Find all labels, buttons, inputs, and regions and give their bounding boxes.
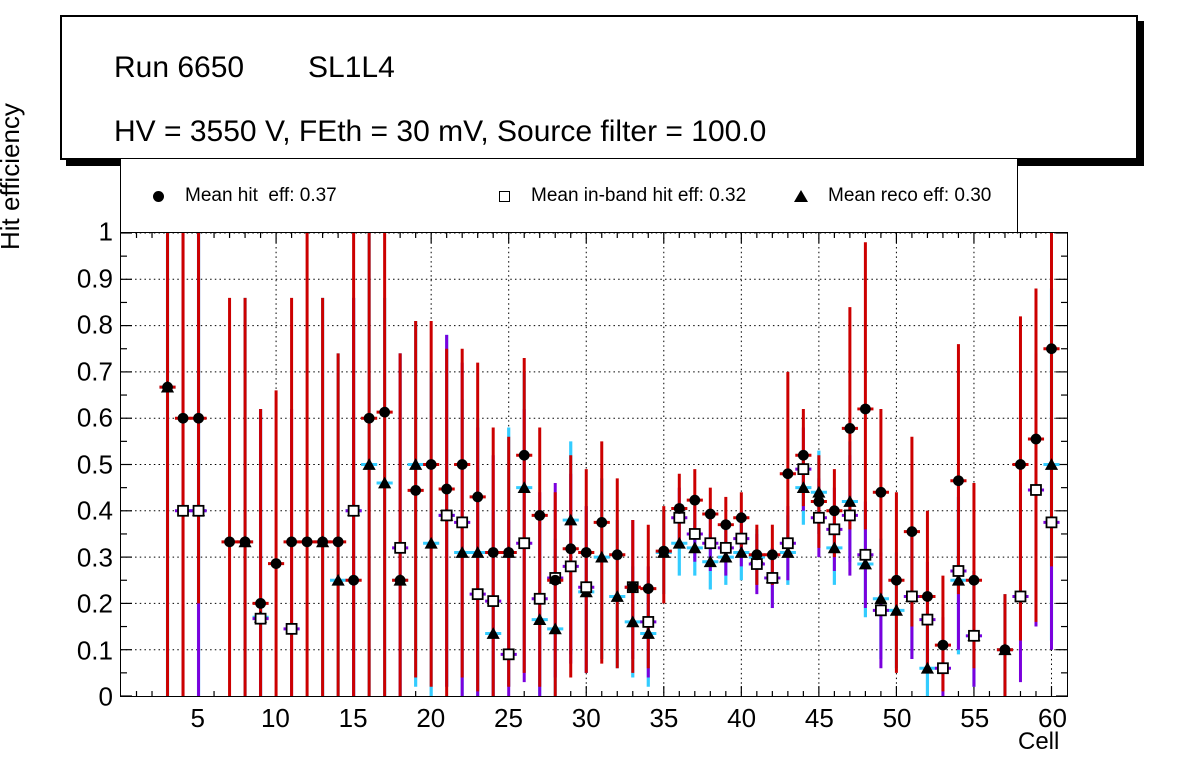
markers-filled-circle — [159, 343, 1059, 655]
y-axis-title: Hit efficiency — [0, 0, 26, 250]
x-tick-label: 15 — [339, 703, 368, 734]
x-tick-label: 10 — [261, 703, 290, 734]
x-tick-label: 55 — [960, 703, 989, 734]
y-tick-label: 1 — [99, 217, 113, 248]
title-box: Run 6650 SL1L4 HV = 3550 V, FEth = 30 mV… — [60, 15, 1138, 160]
x-tick-label: 40 — [727, 703, 756, 734]
y-tick-label: 0.3 — [77, 542, 113, 573]
x-tick-label: 50 — [883, 703, 912, 734]
legend-label-reco-eff: Mean reco eff: 0.30 — [828, 185, 991, 207]
x-axis-title: Cell — [1018, 728, 1059, 756]
run-label: Run 6650 — [114, 51, 244, 85]
x-tick-label: 5 — [190, 703, 204, 734]
legend-label-inband-hit-eff: Mean in-band hit eff: 0.32 — [531, 185, 746, 207]
settings-label: HV = 3550 V, FEth = 30 mV, Source filter… — [114, 115, 766, 149]
legend: Mean hit eff: 0.37 Mean in-band hit eff:… — [120, 158, 1018, 232]
x-tick-label: 20 — [416, 703, 445, 734]
y-tick-label: 0.6 — [77, 403, 113, 434]
grid-lines — [121, 233, 1067, 696]
x-tick-label: 30 — [572, 703, 601, 734]
legend-entry-inband-hit-eff[interactable]: Mean in-band hit eff: 0.32 — [489, 159, 746, 233]
y-tick-label: 0.8 — [77, 310, 113, 341]
x-tick-label: 45 — [805, 703, 834, 734]
x-axis-tick-labels: 51015202530354045505560 — [0, 703, 1196, 743]
y-tick-label: 0.1 — [77, 635, 113, 666]
y-tick-label: 0.5 — [77, 449, 113, 480]
legend-entry-reco-eff[interactable]: Mean reco eff: 0.30 — [786, 159, 991, 233]
x-tick-label: 35 — [649, 703, 678, 734]
legend-entry-hit-eff[interactable]: Mean hit eff: 0.37 — [143, 159, 337, 233]
legend-label-hit-eff: Mean hit eff: 0.37 — [185, 185, 337, 207]
plot-area — [120, 232, 1068, 697]
plot-svg — [121, 233, 1067, 696]
x-tick-label: 25 — [494, 703, 523, 734]
title-box-shadow-right — [1138, 21, 1144, 166]
y-tick-label: 0.2 — [77, 589, 113, 620]
chart-canvas: Run 6650 SL1L4 HV = 3550 V, FEth = 30 mV… — [0, 0, 1196, 772]
open-square-icon — [489, 191, 519, 202]
y-tick-label: 0.7 — [77, 356, 113, 387]
filled-circle-icon — [143, 191, 173, 202]
y-tick-label: 0.9 — [77, 263, 113, 294]
y-tick-label: 0.4 — [77, 496, 113, 527]
superlayer-label: SL1L4 — [308, 51, 395, 85]
filled-triangle-icon — [786, 190, 816, 202]
